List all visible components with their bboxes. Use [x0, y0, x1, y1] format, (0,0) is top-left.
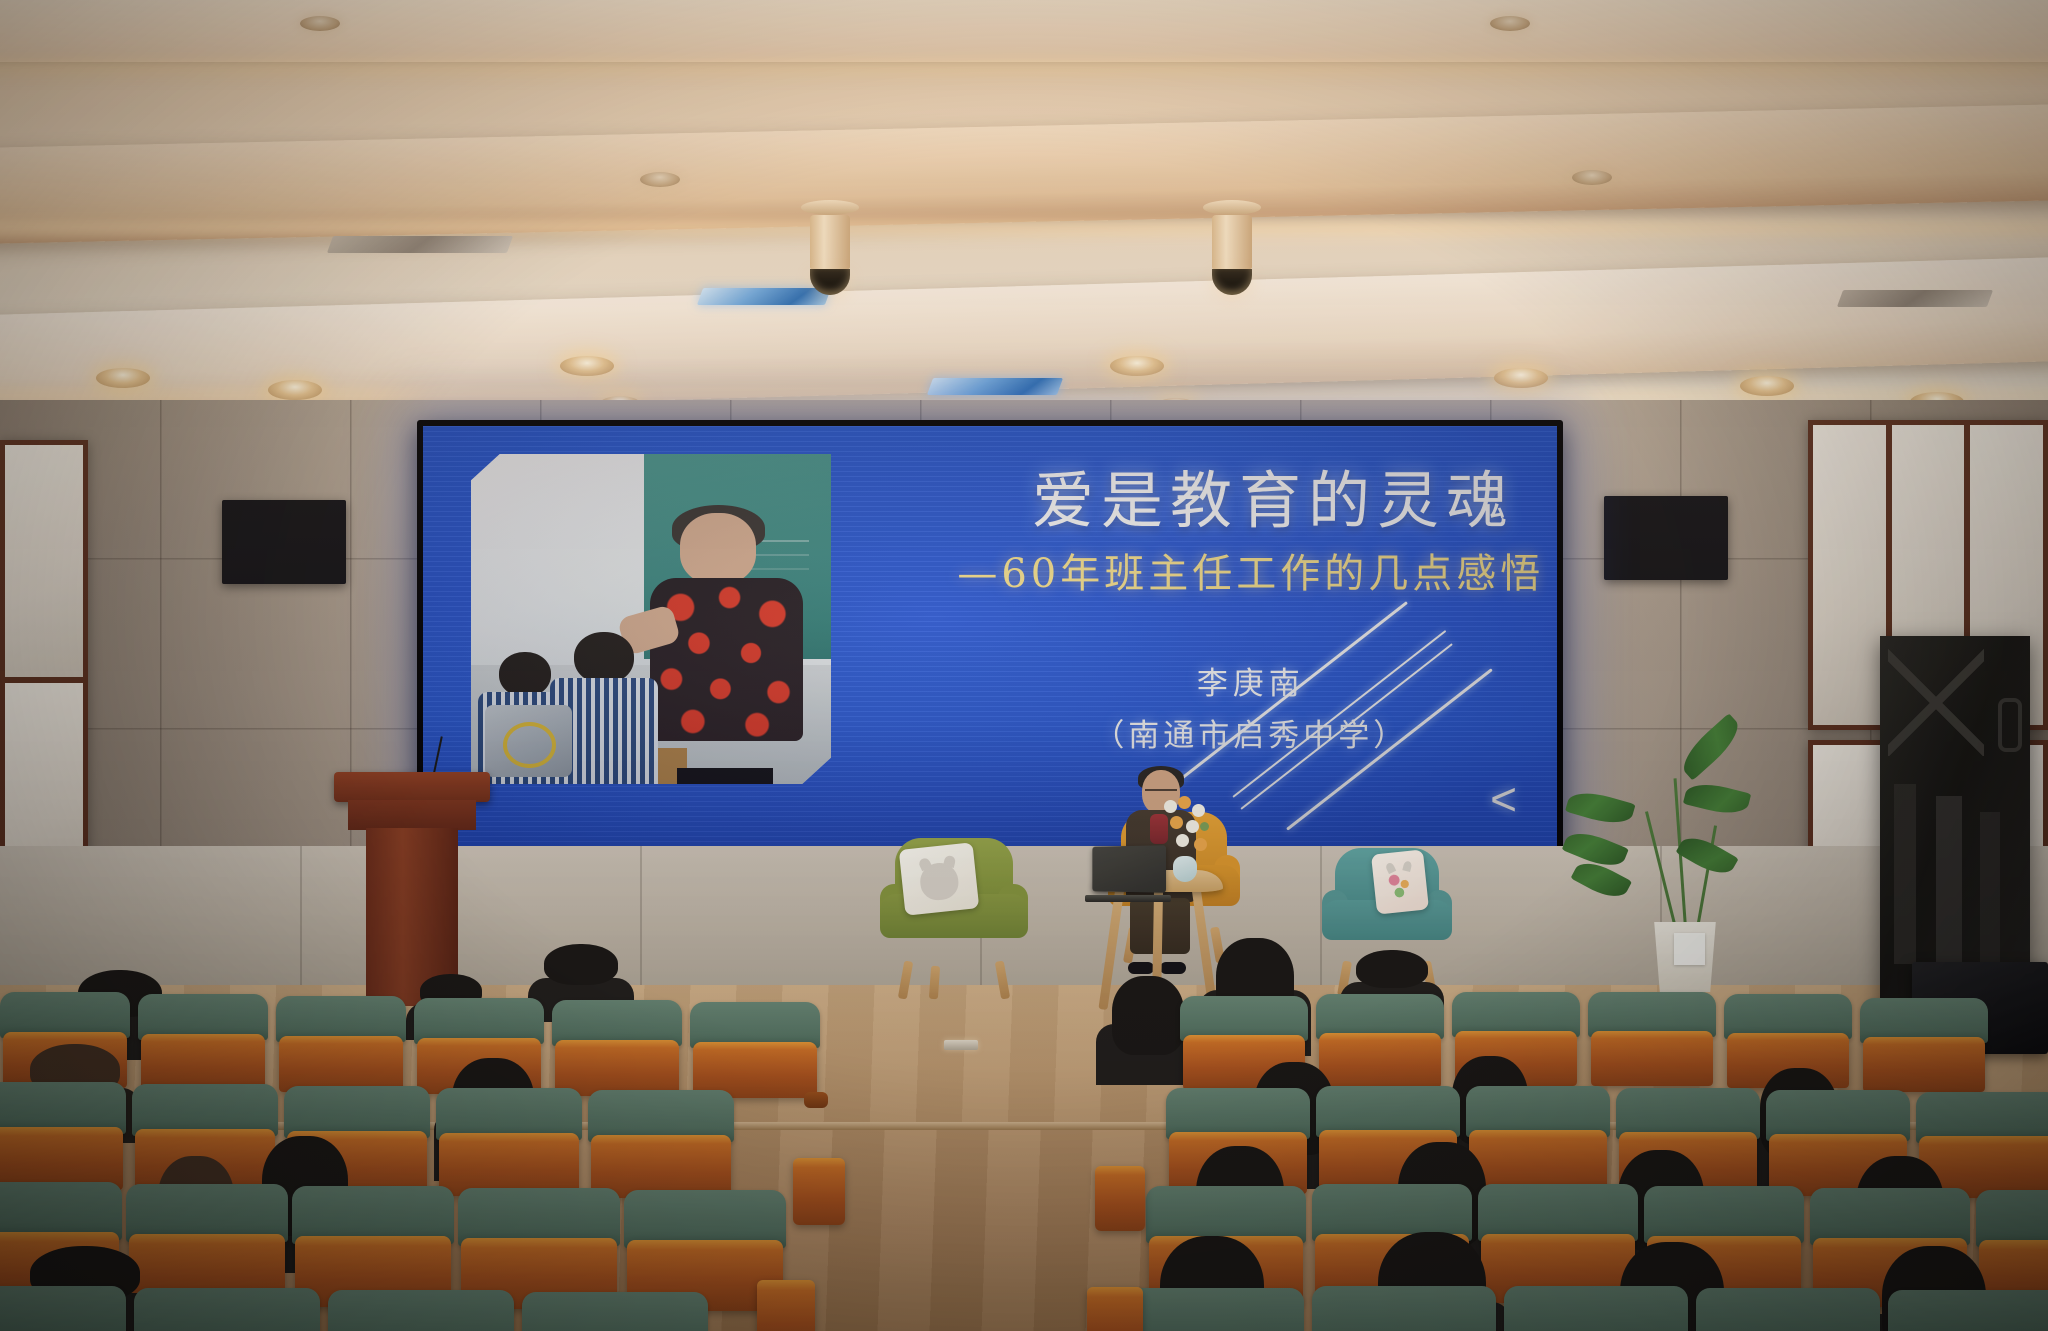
recessed-can-light-icon	[560, 356, 614, 376]
recessed-can-light-icon	[1110, 356, 1164, 376]
audience-person	[1112, 976, 1184, 1068]
audience-seat[interactable]	[1860, 998, 1988, 1096]
flower-vase	[1173, 848, 1197, 882]
audience-seat[interactable]	[1888, 1290, 2048, 1331]
cove-light-glow	[0, 62, 2048, 82]
audience-seat[interactable]	[276, 996, 406, 1096]
audience-seat[interactable]	[1466, 1086, 1610, 1196]
led-display-screen[interactable]: 爱是教育的灵魂 —60年班主任工作的几点感悟 李庚南 （南通市启秀中学） <	[417, 420, 1563, 854]
recessed-can-light-icon	[300, 16, 340, 31]
ceiling-air-vent-icon	[927, 378, 1063, 395]
aisle-seat-arm[interactable]	[756, 1228, 816, 1331]
audience-seat[interactable]	[1504, 1286, 1688, 1331]
ceiling-air-vent-icon	[1837, 290, 1993, 307]
audience-seating	[0, 960, 2048, 1331]
recessed-can-light-icon	[1494, 368, 1548, 388]
ceiling-air-vent-icon	[327, 236, 513, 253]
audience-seat[interactable]	[0, 1286, 126, 1331]
audience-seat[interactable]	[436, 1088, 582, 1200]
audience-seat[interactable]	[328, 1290, 514, 1331]
recessed-can-light-icon	[96, 368, 150, 388]
auditorium-scene: 爱是教育的灵魂 —60年班主任工作的几点感悟 李庚南 （南通市启秀中学） <	[0, 0, 2048, 1331]
cat-pillow	[899, 842, 979, 915]
floral-pillow	[1371, 849, 1429, 914]
cylindrical-downlight-icon	[1212, 200, 1252, 295]
recessed-can-light-icon	[1740, 376, 1794, 396]
photo-backpack	[485, 705, 571, 778]
aisle-seat-arm[interactable]	[1094, 1120, 1146, 1236]
slide-photo	[471, 454, 831, 784]
audience-seat[interactable]	[1316, 994, 1444, 1092]
audience-seat[interactable]	[552, 1000, 682, 1100]
photo-teacher	[644, 513, 810, 784]
slide-title: 爱是教育的灵魂	[1013, 470, 1535, 532]
cylindrical-downlight-icon	[810, 200, 850, 295]
audience-seat[interactable]	[1120, 1288, 1304, 1331]
recessed-can-light-icon	[1572, 170, 1612, 185]
presentation-slide[interactable]: 爱是教育的灵魂 —60年班主任工作的几点感悟 李庚南 （南通市启秀中学） <	[423, 426, 1557, 848]
slide-presenter-org: （南通市启秀中学）	[990, 710, 1512, 755]
slide-subtitle: —60年班主任工作的几点感悟	[922, 554, 1557, 594]
potted-plant	[1608, 742, 1778, 992]
rack-handle-icon	[1998, 698, 2022, 752]
ceiling	[0, 0, 2048, 420]
aisle-seat-arm[interactable]	[1086, 1236, 1144, 1331]
audience-seat[interactable]	[134, 1288, 320, 1331]
slide-presenter-name: 李庚南	[990, 658, 1512, 703]
stage-equipment-rack	[1880, 636, 2030, 1016]
cove-light-glow	[0, 222, 2048, 242]
recessed-can-light-icon	[268, 380, 322, 400]
audience-seat[interactable]	[522, 1292, 708, 1331]
audience-seat[interactable]	[0, 1082, 126, 1194]
recessed-can-light-icon	[640, 172, 680, 187]
audience-seat[interactable]	[1588, 992, 1716, 1090]
recessed-can-light-icon	[1490, 16, 1530, 31]
wall-speaker-panel	[1604, 496, 1728, 580]
aisle-seat-arm[interactable]	[792, 1110, 846, 1230]
slide-chevron-icon: <	[1490, 776, 1517, 822]
audience-seat[interactable]	[690, 1002, 820, 1102]
audience-seat[interactable]	[588, 1090, 734, 1202]
audience-seat[interactable]	[1696, 1288, 1880, 1331]
audience-seat[interactable]	[138, 994, 268, 1094]
audience-seat[interactable]	[1312, 1286, 1496, 1331]
ceiling-beam	[0, 0, 2048, 62]
wall-speaker-panel	[222, 500, 346, 584]
